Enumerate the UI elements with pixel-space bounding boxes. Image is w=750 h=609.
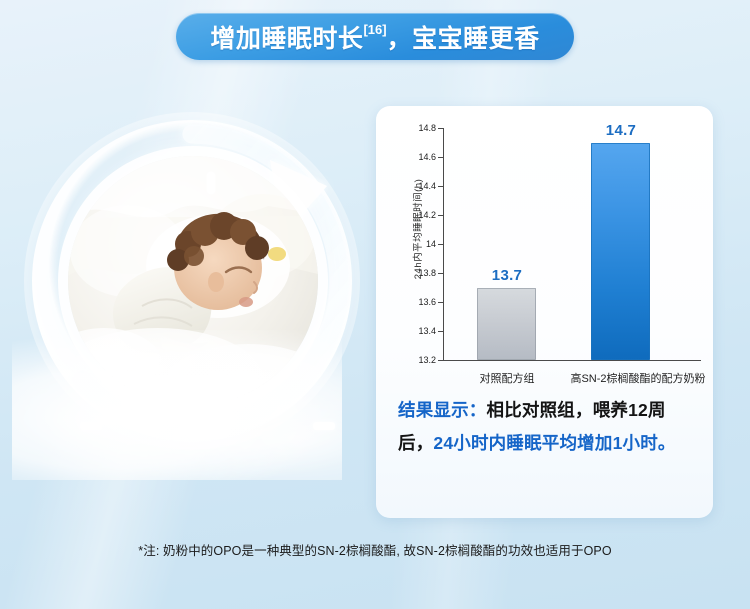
chart-y-tick-2: 14.4 (394, 181, 436, 191)
result-highlight: 24小时内睡眠平均增加1小时。 (433, 433, 675, 453)
chart-y-tick-0: 14.8 (394, 123, 436, 133)
chart-y-tick-6: 13.6 (394, 297, 436, 307)
chart-category-sn2: 高SN-2棕榈酸酯的配方奶粉 (558, 370, 718, 386)
clock-tick-bottom-icon (207, 412, 215, 434)
illustration-zone (22, 112, 362, 452)
citation-superscript: [16] (363, 22, 386, 37)
chart-x-axis-line (443, 360, 701, 361)
header-pill: 增加睡眠时长[16]，宝宝睡更香 (176, 13, 573, 60)
stats-card: 24h内平均睡眠时间(h) 14.8 14.6 14.4 14.2 14 13.… (376, 106, 713, 518)
chart-y-tick-7: 13.4 (394, 326, 436, 336)
chart-y-tick-4: 14 (394, 239, 436, 249)
clock-tick-left-icon (80, 422, 102, 430)
chart-y-tick-1: 14.6 (394, 152, 436, 162)
clock-tick-top-icon (207, 172, 215, 194)
result-paragraph: 结果显示：相比对照组，喂养12周后，24小时内睡眠平均增加1小时。 (398, 394, 694, 460)
chart-y-axis-label: 24h内平均睡眠时间(h) (410, 154, 424, 304)
clock-tick-right-icon (313, 422, 335, 430)
chart-value-label-control: 13.7 (472, 267, 542, 284)
sleeping-baby-photo (68, 156, 318, 406)
chart-value-label-sn2: 14.7 (586, 122, 656, 139)
sleep-duration-bar-chart: 24h内平均睡眠时间(h) 14.8 14.6 14.4 14.2 14 13.… (376, 114, 713, 386)
page-title-tail: ，宝宝睡更香 (387, 19, 540, 55)
chart-bar-control (477, 288, 536, 361)
chart-y-tick-3: 14.2 (394, 210, 436, 220)
page-title: 增加睡眠时长 (210, 19, 363, 55)
chart-category-control: 对照配方组 (452, 370, 562, 386)
chart-y-axis-line (443, 128, 444, 361)
footnote: *注: 奶粉中的OPO是一种典型的SN-2棕榈酸酯, 故SN-2棕榈酸酯的功效也… (0, 540, 750, 559)
chart-y-tick-5: 13.8 (394, 268, 436, 278)
chart-bar-sn2 (591, 143, 650, 361)
header-banner: 增加睡眠时长[16]，宝宝睡更香 (0, 13, 750, 60)
chart-y-tick-8: 13.2 (394, 355, 436, 365)
result-lead-in: 结果显示： (398, 400, 487, 420)
